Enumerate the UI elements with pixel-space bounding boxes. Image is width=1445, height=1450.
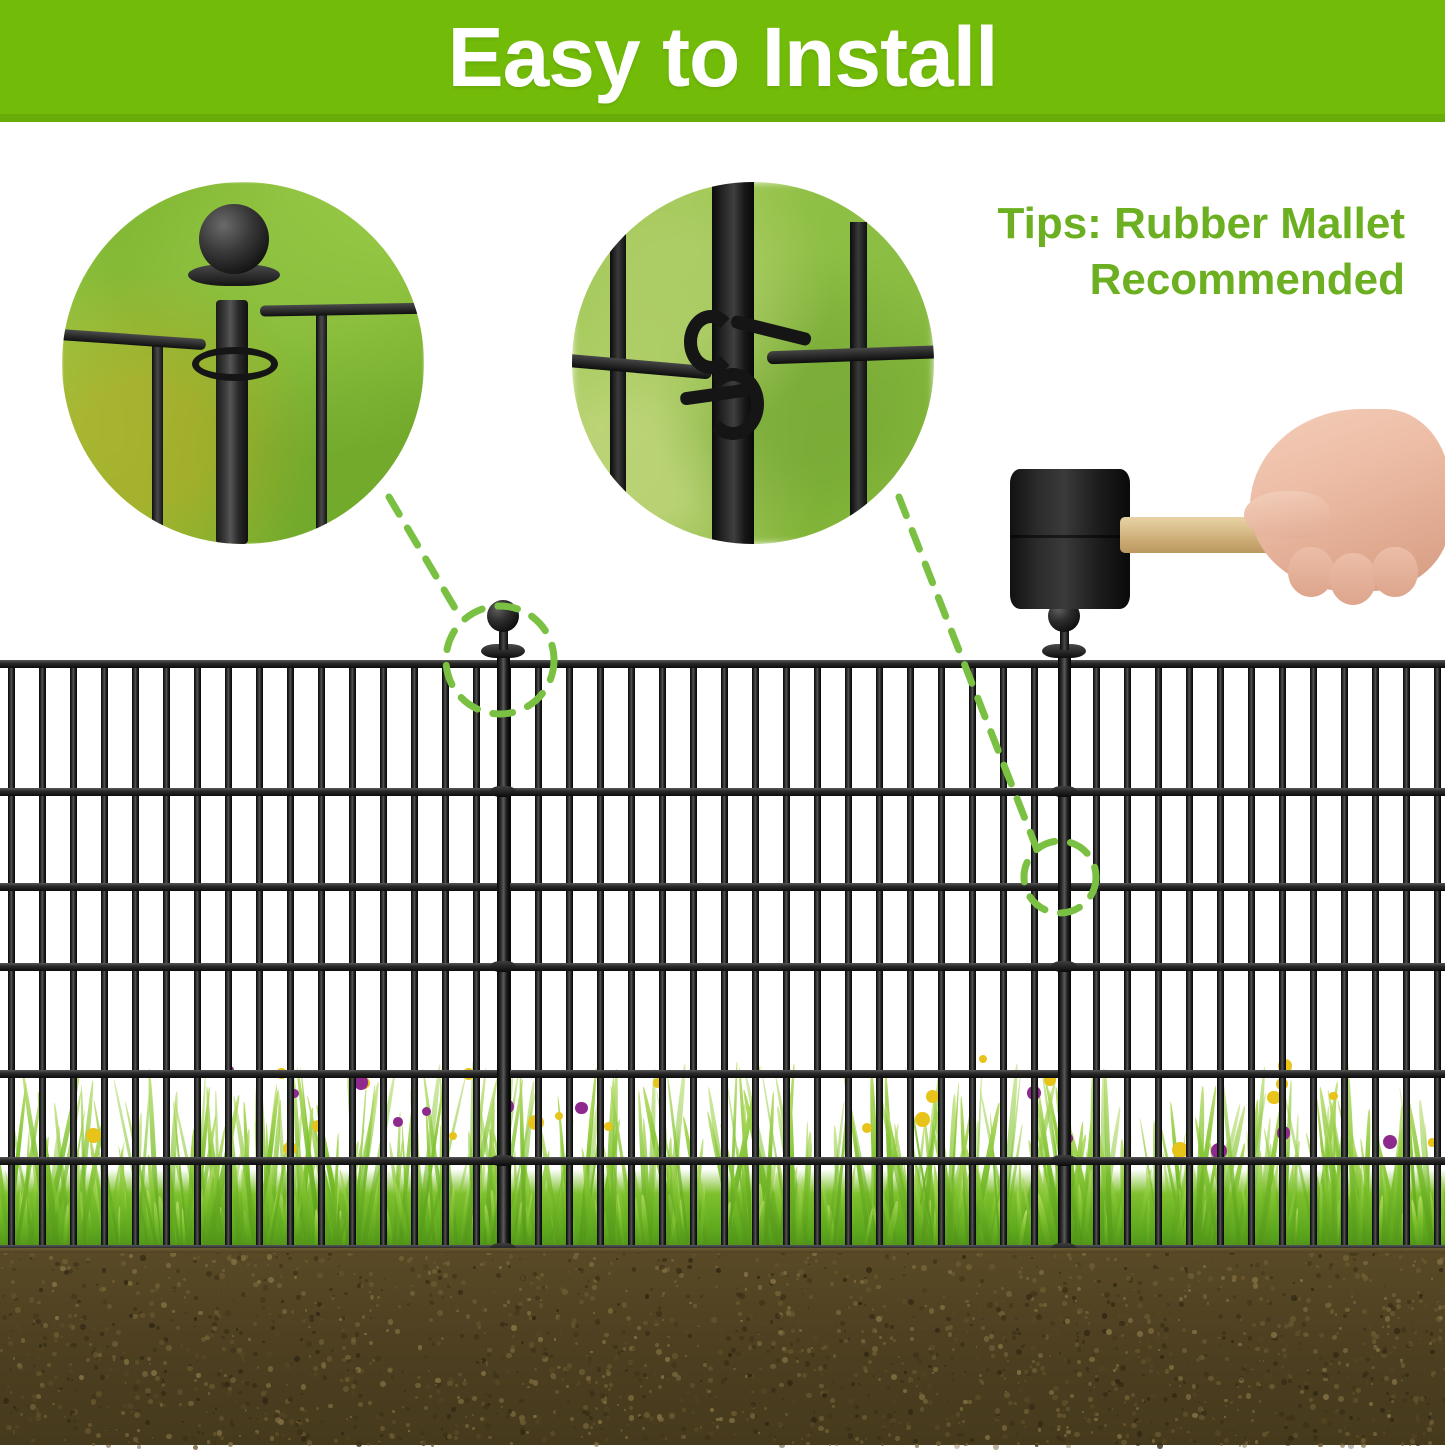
- soil-grain: [667, 1336, 670, 1339]
- soil-grain: [1230, 1401, 1233, 1404]
- soil-grain: [140, 1255, 146, 1261]
- soil-grain: [455, 1384, 458, 1387]
- soil-grain: [201, 1337, 206, 1342]
- soil-grain: [1095, 1375, 1098, 1378]
- soil-grain: [1412, 1300, 1414, 1302]
- soil-grain: [962, 1420, 965, 1423]
- soil-grain: [405, 1438, 407, 1440]
- soil-grain: [1266, 1431, 1269, 1434]
- soil-grain: [692, 1253, 696, 1257]
- soil-grain: [34, 1365, 36, 1367]
- soil-grain: [1148, 1345, 1152, 1349]
- soil-grain: [818, 1426, 824, 1432]
- soil-grain: [585, 1285, 588, 1288]
- soil-grain: [1106, 1329, 1112, 1335]
- soil-grain: [554, 1338, 557, 1341]
- soil-grain: [558, 1415, 560, 1417]
- soil-grain: [207, 1440, 210, 1443]
- soil-grain: [1062, 1287, 1068, 1293]
- soil-grain: [632, 1267, 637, 1272]
- soil-grain: [977, 1307, 982, 1312]
- soil-grain: [73, 1419, 77, 1423]
- soil-grain: [765, 1422, 769, 1426]
- soil-grain: [452, 1274, 456, 1278]
- soil-grain: [629, 1406, 633, 1410]
- soil-grain: [966, 1264, 972, 1270]
- soil-grain: [1332, 1335, 1337, 1340]
- soil-grain: [608, 1345, 610, 1347]
- soil-grain: [662, 1439, 666, 1443]
- soil-grain: [1220, 1286, 1222, 1288]
- soil-grain: [1442, 1305, 1445, 1309]
- soil-grain: [682, 1408, 686, 1412]
- soil-grain: [1203, 1265, 1206, 1268]
- soil-grain: [735, 1287, 738, 1290]
- soil-grain: [848, 1338, 850, 1340]
- soil-grain: [1338, 1429, 1341, 1432]
- soil-grain: [638, 1378, 642, 1382]
- soil-grain: [1182, 1328, 1186, 1332]
- soil-grain: [855, 1405, 859, 1409]
- soil-grain: [1094, 1348, 1099, 1353]
- soil-grain: [1325, 1410, 1327, 1412]
- soil-grain: [21, 1395, 25, 1399]
- soil-grain: [68, 1323, 73, 1328]
- soil-grain: [903, 1314, 907, 1318]
- soil-grain: [840, 1321, 845, 1326]
- soil-grain: [1395, 1417, 1398, 1420]
- soil-grain: [807, 1278, 812, 1283]
- soil-grain: [64, 1416, 66, 1418]
- soil-grain: [1162, 1439, 1166, 1443]
- header-banner: Easy to Install: [0, 0, 1445, 122]
- soil-grain: [1131, 1423, 1137, 1429]
- soil-grain: [1261, 1346, 1264, 1349]
- soil-grain: [1412, 1322, 1414, 1324]
- soil-grain: [1369, 1402, 1373, 1406]
- soil-grain: [1187, 1431, 1189, 1433]
- soil-grain: [121, 1261, 126, 1266]
- soil-grain: [1180, 1427, 1182, 1429]
- soil-grain: [1025, 1303, 1029, 1307]
- soil-grain: [1008, 1401, 1012, 1405]
- soil-grain: [1192, 1384, 1196, 1388]
- soil-grain: [532, 1316, 535, 1319]
- soil-grain: [913, 1316, 915, 1318]
- soil-grain: [96, 1391, 102, 1397]
- soil-grain: [982, 1318, 984, 1320]
- soil-grain: [562, 1289, 568, 1295]
- soil-grain: [1339, 1409, 1345, 1415]
- soil-grain: [699, 1433, 701, 1435]
- soil-grain: [1199, 1415, 1205, 1421]
- soil-grain: [1282, 1293, 1286, 1297]
- soil-grain: [231, 1255, 234, 1258]
- soil-grain: [1121, 1334, 1124, 1337]
- soil-grain: [1066, 1426, 1069, 1429]
- soil-grain: [500, 1322, 506, 1328]
- soil-grain: [823, 1345, 828, 1350]
- soil-grain: [1237, 1386, 1239, 1388]
- soil-grain: [751, 1391, 754, 1394]
- soil-grain: [193, 1445, 198, 1450]
- soil-grain: [176, 1326, 180, 1330]
- fence-vertical-bar: [225, 660, 232, 1260]
- soil-grain: [787, 1306, 791, 1310]
- soil-grain: [429, 1395, 432, 1398]
- soil-grain: [986, 1368, 989, 1371]
- soil-grain: [592, 1285, 597, 1290]
- soil-grain: [1387, 1414, 1391, 1418]
- soil-grain: [383, 1278, 386, 1281]
- soil-grain: [625, 1290, 628, 1293]
- soil-grain: [1364, 1371, 1369, 1376]
- soil-grain: [1039, 1303, 1043, 1307]
- soil-grain: [586, 1255, 590, 1259]
- soil-grain: [1333, 1352, 1339, 1358]
- soil-grain: [1192, 1413, 1197, 1418]
- soil-grain: [539, 1303, 544, 1308]
- soil-grain: [1024, 1397, 1030, 1403]
- soil-grain: [1412, 1264, 1415, 1267]
- soil-grain: [194, 1317, 197, 1320]
- soil-grain: [413, 1359, 415, 1361]
- soil-grain: [821, 1373, 824, 1376]
- soil-grain: [927, 1384, 932, 1389]
- soil-grain: [1088, 1371, 1090, 1373]
- soil-grain: [608, 1388, 611, 1391]
- soil-grain: [40, 1324, 43, 1327]
- soil-grain: [406, 1407, 410, 1411]
- soil-grain: [1300, 1279, 1303, 1282]
- soil-grain: [470, 1322, 472, 1324]
- soil-grain: [222, 1269, 225, 1272]
- soil-grain: [1264, 1260, 1269, 1265]
- ball-finial-icon: [487, 600, 519, 632]
- soil-grain: [634, 1371, 640, 1377]
- soil-grain: [1330, 1309, 1335, 1314]
- soil-grain: [79, 1375, 84, 1380]
- soil-grain: [206, 1271, 212, 1277]
- soil-grain: [136, 1291, 140, 1295]
- soil-grain: [1412, 1329, 1414, 1331]
- soil-grain: [1152, 1439, 1156, 1443]
- soil-grain: [1153, 1281, 1158, 1286]
- soil-grain: [1042, 1372, 1046, 1376]
- soil-grain: [900, 1380, 904, 1384]
- soil-grain: [1416, 1418, 1420, 1422]
- soil-grain: [1167, 1303, 1170, 1306]
- soil-grain: [1425, 1330, 1428, 1333]
- soil-grain: [195, 1353, 199, 1357]
- soil-grain: [940, 1305, 945, 1310]
- soil-grain: [1029, 1442, 1031, 1444]
- soil-grain: [601, 1428, 603, 1430]
- soil-grain: [1420, 1396, 1425, 1401]
- soil-grain: [217, 1372, 222, 1377]
- soil-grain: [319, 1339, 325, 1345]
- soil-grain: [0, 1349, 3, 1352]
- soil-grain: [1193, 1393, 1196, 1396]
- soil-grain: [186, 1348, 190, 1352]
- soil-grain: [768, 1274, 771, 1277]
- page-title: Easy to Install: [448, 15, 998, 99]
- soil-grain: [1117, 1434, 1122, 1439]
- soil-grain: [474, 1334, 480, 1340]
- soil-grain: [99, 1406, 102, 1409]
- soil-grain: [679, 1273, 684, 1278]
- soil-grain: [1069, 1276, 1072, 1279]
- panel-connector-knot: [1051, 961, 1077, 972]
- soil-grain: [921, 1371, 927, 1377]
- soil-grain: [1147, 1319, 1151, 1323]
- soil-grain: [328, 1404, 332, 1408]
- soil-grain: [799, 1329, 802, 1332]
- soil-grain: [488, 1394, 492, 1398]
- soil-grain: [1246, 1393, 1251, 1398]
- soil-grain: [1217, 1288, 1220, 1291]
- soil-grain: [132, 1269, 137, 1274]
- soil-grain: [960, 1425, 962, 1427]
- soil-grain: [183, 1278, 186, 1281]
- soil-grain: [589, 1262, 594, 1267]
- soil-grain: [658, 1306, 661, 1309]
- soil-grain: [314, 1256, 319, 1261]
- soil-grain: [964, 1318, 969, 1323]
- soil-grain: [272, 1320, 276, 1324]
- soil-grain: [945, 1326, 949, 1330]
- soil-grain: [563, 1268, 569, 1274]
- soil-grain: [1218, 1314, 1223, 1319]
- fence-vertical-bar: [610, 224, 626, 544]
- soil-grain: [854, 1373, 858, 1377]
- tips-text: Tips: Rubber Mallet Recommended: [945, 196, 1405, 309]
- soil-grain: [36, 1371, 42, 1377]
- fence-vertical-bar: [1000, 660, 1007, 1260]
- soil-grain: [1353, 1296, 1355, 1298]
- soil-grain: [929, 1350, 934, 1355]
- soil-grain: [112, 1341, 118, 1347]
- soil-grain: [1370, 1377, 1374, 1381]
- soil-grain: [966, 1331, 968, 1333]
- soil-grain: [782, 1357, 788, 1363]
- soil-grain: [575, 1342, 578, 1345]
- soil-grain: [1167, 1317, 1171, 1321]
- soil-grain: [509, 1254, 514, 1259]
- soil-grain: [694, 1427, 699, 1432]
- soil-grain: [263, 1279, 265, 1281]
- soil-grain: [438, 1270, 441, 1273]
- soil-grain: [196, 1398, 200, 1402]
- soil-grain: [1180, 1267, 1184, 1271]
- soil-grain: [955, 1338, 958, 1341]
- soil-grain: [215, 1407, 217, 1409]
- soil-grain: [344, 1292, 347, 1295]
- soil-grain: [855, 1437, 859, 1441]
- soil-grain: [1115, 1379, 1120, 1384]
- soil-grain: [883, 1305, 886, 1308]
- soil-grain: [888, 1301, 890, 1303]
- soil-grain: [1265, 1276, 1269, 1280]
- soil-grain: [1042, 1334, 1046, 1338]
- soil-grain: [1038, 1421, 1043, 1426]
- soil-grain: [906, 1425, 910, 1429]
- soil-grain: [1387, 1430, 1389, 1432]
- soil-grain: [433, 1414, 437, 1418]
- soil-grain: [424, 1355, 429, 1360]
- soil-grain: [1363, 1261, 1368, 1266]
- soil-grain: [1113, 1432, 1116, 1435]
- soil-grain: [1167, 1291, 1170, 1294]
- fence-vertical-bar: [70, 660, 77, 1260]
- soil-grain: [1139, 1272, 1144, 1277]
- soil-grain: [645, 1294, 649, 1298]
- soil-grain: [280, 1275, 283, 1278]
- soil-grain: [892, 1256, 896, 1260]
- soil-grain: [274, 1273, 276, 1275]
- soil-grain: [807, 1348, 811, 1352]
- soil-grain: [212, 1260, 216, 1264]
- soil-grain: [260, 1255, 262, 1257]
- soil-grain: [1183, 1412, 1188, 1417]
- fence-vertical-bar: [938, 660, 945, 1260]
- soil-grain: [695, 1395, 697, 1397]
- soil-grain: [1088, 1382, 1093, 1387]
- soil-grain: [1021, 1267, 1023, 1269]
- soil-grain: [657, 1414, 662, 1419]
- soil-grain: [55, 1302, 59, 1306]
- soil-grain: [1438, 1305, 1443, 1310]
- soil-grain: [1183, 1381, 1186, 1384]
- soil-grain: [1076, 1332, 1079, 1335]
- soil-grain: [665, 1357, 670, 1362]
- soil-grain: [132, 1412, 134, 1414]
- soil-grain: [981, 1326, 985, 1330]
- soil-grain: [1291, 1295, 1297, 1301]
- soil-grain: [827, 1414, 832, 1419]
- soil-grain: [92, 1327, 96, 1331]
- soil-grain: [462, 1381, 467, 1386]
- soil-grain: [1029, 1404, 1035, 1410]
- soil-grain: [801, 1438, 803, 1440]
- soil-grain: [1153, 1265, 1157, 1269]
- soil-grain: [1319, 1356, 1323, 1360]
- soil-grain: [574, 1426, 576, 1428]
- soil-grain: [555, 1390, 559, 1394]
- soil-grain: [499, 1398, 504, 1403]
- soil-grain: [1188, 1362, 1190, 1364]
- soil-grain: [1157, 1311, 1162, 1316]
- soil-grain: [1208, 1276, 1214, 1282]
- soil-grain: [353, 1415, 359, 1421]
- soil-grain: [506, 1353, 511, 1358]
- soil-grain: [1323, 1373, 1329, 1379]
- soil-grain: [1335, 1313, 1337, 1315]
- soil-grain: [196, 1373, 201, 1378]
- soil-grain: [135, 1395, 141, 1401]
- soil-grain: [859, 1296, 863, 1300]
- fence-horizontal-rail: [0, 660, 1445, 668]
- soil-grain: [872, 1308, 875, 1311]
- soil-grain: [686, 1295, 689, 1298]
- soil-grain: [306, 1341, 312, 1347]
- soil-grain: [1335, 1274, 1340, 1279]
- soil-grain: [595, 1407, 598, 1410]
- ball-finial-icon: [199, 204, 269, 274]
- soil-grain: [166, 1338, 169, 1341]
- soil-grain: [689, 1302, 691, 1304]
- soil-grain: [792, 1400, 795, 1403]
- soil-grain: [653, 1303, 655, 1305]
- soil-grain: [755, 1415, 758, 1418]
- soil-grain: [1103, 1367, 1107, 1371]
- soil-grain: [296, 1295, 301, 1300]
- soil-grain: [661, 1375, 664, 1378]
- soil-grain: [238, 1369, 243, 1374]
- soil-grain: [1012, 1255, 1017, 1260]
- soil-grain: [410, 1291, 415, 1296]
- soil-grain: [887, 1413, 893, 1419]
- soil-grain: [674, 1322, 678, 1326]
- soil-grain: [1106, 1257, 1111, 1262]
- soil-grain: [1328, 1285, 1332, 1289]
- soil-grain: [54, 1375, 58, 1379]
- soil-grain: [1400, 1268, 1403, 1271]
- soil-grain: [1189, 1439, 1192, 1442]
- soil-grain: [750, 1413, 756, 1419]
- soil-grain: [1248, 1385, 1251, 1388]
- fence-vertical-bar: [535, 660, 542, 1260]
- soil-grain: [21, 1338, 26, 1343]
- soil-grain: [771, 1346, 774, 1349]
- soil-grain: [1249, 1440, 1251, 1442]
- soil-grain: [1163, 1318, 1167, 1322]
- soil-grain: [1163, 1397, 1168, 1402]
- soil-grain: [134, 1412, 140, 1418]
- soil-grain: [461, 1280, 466, 1285]
- soil-grain: [1114, 1387, 1118, 1391]
- soil-grain: [430, 1301, 434, 1305]
- soil-grain: [36, 1355, 41, 1360]
- soil-grain: [1266, 1339, 1268, 1341]
- soil-grain: [908, 1299, 914, 1305]
- soil-grain: [559, 1331, 562, 1334]
- soil-grain: [579, 1369, 584, 1374]
- soil-grain: [102, 1287, 106, 1291]
- soil-grain: [163, 1292, 166, 1295]
- soil-grain: [1355, 1273, 1361, 1279]
- soil-grain: [572, 1318, 577, 1323]
- soil-grain: [720, 1329, 723, 1332]
- soil-grain: [681, 1376, 683, 1378]
- soil-grain: [1184, 1290, 1186, 1292]
- soil-grain: [1298, 1385, 1301, 1388]
- soil-grain: [1165, 1422, 1169, 1426]
- soil-grain: [1139, 1296, 1144, 1301]
- soil-grain: [1012, 1336, 1017, 1341]
- fence-vertical-bar: [287, 660, 294, 1260]
- soil-grain: [1219, 1345, 1221, 1347]
- soil-grain: [864, 1304, 866, 1306]
- soil-grain: [331, 1349, 334, 1352]
- soil-grain: [1396, 1299, 1401, 1304]
- soil-grain: [952, 1312, 955, 1315]
- soil-grain: [103, 1299, 107, 1303]
- soil-grain: [759, 1368, 761, 1370]
- soil-grain: [1004, 1352, 1008, 1356]
- soil-grain: [1193, 1440, 1196, 1443]
- soil-grain: [521, 1341, 524, 1344]
